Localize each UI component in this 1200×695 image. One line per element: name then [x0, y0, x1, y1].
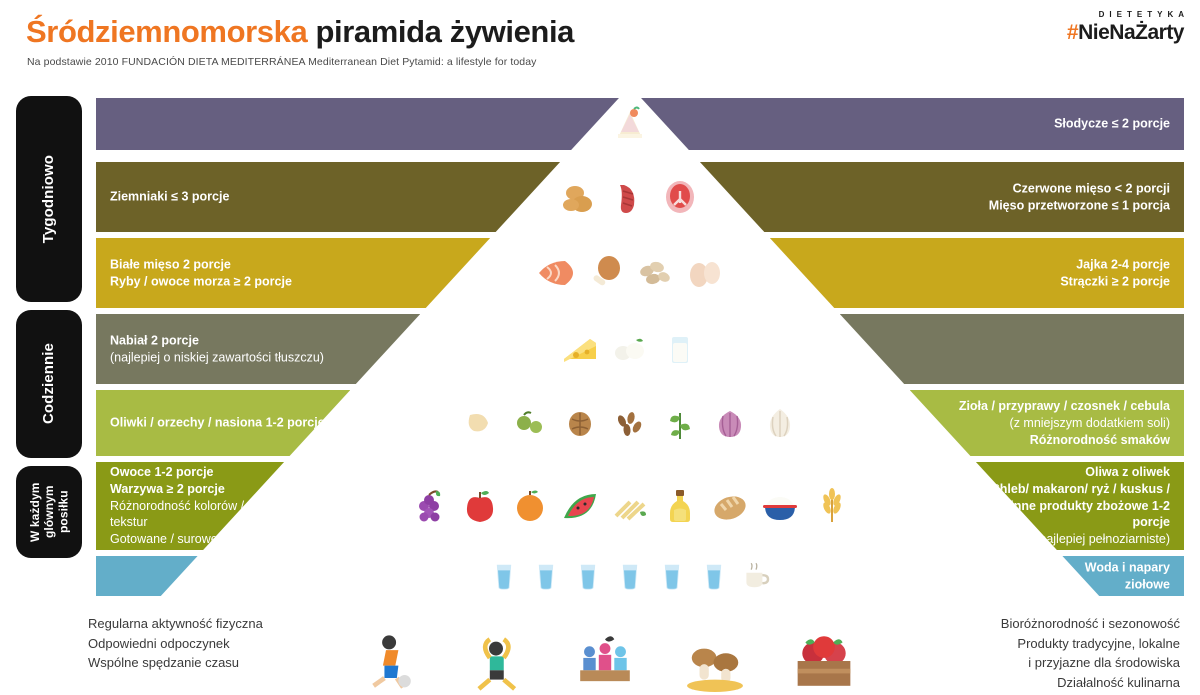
band-right-text-sweets: Słodycze ≤ 2 porcje	[1054, 116, 1170, 133]
band-right-dairy	[840, 314, 1184, 384]
pyramid-row-water: Woda i napary ziołowe	[0, 556, 1200, 596]
sidebar-item-weekly[interactable]: Tygodniowo	[16, 96, 82, 302]
band-left-text-olives-nuts-herbs: Oliwki / orzechy / nasiona 1-2 porcje	[110, 415, 325, 432]
stretching-person-icon	[465, 630, 527, 692]
pyramid-row-red-meat: Ziemniaki ≤ 3 porcjeCzerwone mięso < 2 p…	[0, 162, 1200, 232]
band-right-text-white-meat-fish: Jajka 2-4 porcjeStrączki ≥ 2 porcje	[1060, 256, 1170, 290]
band-right-water: Woda i napary ziołowe	[1062, 556, 1184, 596]
page-header: Śródziemnomorska piramida żywienia Na po…	[0, 0, 1200, 92]
band-right-text-red-meat: Czerwone mięso < 2 porcjiMięso przetworz…	[989, 180, 1170, 214]
band-left-dairy: Nabiał 2 porcje(najlepiej o niskiej zawa…	[96, 314, 420, 384]
page-title-highlight: Śródziemnomorska	[26, 14, 307, 49]
band-left-red-meat: Ziemniaki ≤ 3 porcje	[96, 162, 560, 232]
footer-sustainability-text: Bioróżnorodność i sezonowość Produkty tr…	[1001, 614, 1180, 692]
band-right-white-meat-fish: Jajka 2-4 porcjeStrączki ≥ 2 porcje	[770, 238, 1184, 308]
band-right-fruit-veg-grains: Oliwa z oliwekChleb/ makaron/ ryż / kusk…	[976, 462, 1184, 550]
pyramid-row-fruit-veg-grains: Owoce 1-2 porcjeWarzywa ≥ 2 porcjeRóżnor…	[0, 462, 1200, 550]
sidebar-item-weekly-label: Tygodniowo	[40, 155, 58, 243]
brand-kicker: DIETETYKA	[1067, 10, 1189, 19]
band-left-text-dairy: Nabiał 2 porcje(najlepiej o niskiej zawa…	[110, 332, 324, 366]
band-right-text-olives-nuts-herbs: Zioła / przyprawy / czosnek / cebula(z m…	[959, 398, 1170, 448]
pyramid-row-olives-nuts-herbs: Oliwki / orzechy / nasiona 1-2 porcjeZio…	[0, 390, 1200, 456]
band-left-white-meat-fish: Białe mięso 2 porcjeRyby / owoce morza ≥…	[96, 238, 490, 308]
footer-icon-row	[355, 612, 855, 692]
pyramid-row-dairy: Nabiał 2 porcje(najlepiej o niskiej zawa…	[0, 314, 1200, 384]
band-left-text-white-meat-fish: Białe mięso 2 porcjeRyby / owoce morza ≥…	[110, 256, 292, 290]
running-person-icon	[355, 630, 417, 692]
pyramid-row-white-meat-fish: Białe mięso 2 porcjeRyby / owoce morza ≥…	[0, 238, 1200, 308]
pyramid-row-sweets: Słodycze ≤ 2 porcje	[0, 98, 1200, 150]
footer-lifestyle-text: Regularna aktywność fizyczna Odpowiedni …	[88, 614, 263, 673]
page-title-rest: piramida żywienia	[307, 14, 574, 49]
band-left-sweets	[96, 98, 619, 150]
band-left-olives-nuts-herbs: Oliwki / orzechy / nasiona 1-2 porcje	[96, 390, 350, 456]
page-footer: Regularna aktywność fizyczna Odpowiedni …	[0, 604, 1200, 695]
band-right-text-water: Woda i napary ziołowe	[1062, 559, 1170, 593]
sidebar-item-daily[interactable]: Codziennie	[16, 310, 82, 458]
page-subtitle: Na podstawie 2010 FUNDACIÓN DIETA MEDITE…	[27, 56, 537, 68]
pyramid-stage: Słodycze ≤ 2 porcjeZiemniaki ≤ 3 porcjeC…	[0, 92, 1200, 695]
sidebar-item-every-meal[interactable]: W każdym glównym posiłku	[16, 466, 82, 558]
apple-crate-icon	[793, 630, 855, 692]
band-right-olives-nuts-herbs: Zioła / przyprawy / czosnek / cebula(z m…	[910, 390, 1184, 456]
band-right-sweets: Słodycze ≤ 2 porcje	[641, 98, 1184, 150]
sidebar-item-daily-label: Codziennie	[40, 343, 58, 424]
hash-icon: #	[1067, 21, 1078, 44]
band-right-red-meat: Czerwone mięso < 2 porcjiMięso przetworz…	[700, 162, 1184, 232]
mushrooms-icon	[684, 630, 746, 692]
band-left-water	[96, 556, 198, 596]
brand-name: #NieNaŻarty	[1067, 21, 1184, 45]
brand-name-text: NieNaŻarty	[1078, 21, 1184, 44]
sidebar-item-every-meal-label: W każdym glównym posiłku	[28, 466, 70, 558]
people-at-table-icon	[574, 630, 636, 692]
band-left-text-fruit-veg-grains: Owoce 1-2 porcjeWarzywa ≥ 2 porcjeRóżnor…	[110, 464, 284, 548]
page-title: Śródziemnomorska piramida żywienia	[26, 14, 574, 50]
brand-logo: DIETETYKA #NieNaŻarty	[1067, 10, 1184, 45]
band-right-text-fruit-veg-grains: Oliwa z oliwekChleb/ makaron/ ryż / kusk…	[976, 464, 1170, 548]
band-left-text-red-meat: Ziemniaki ≤ 3 porcje	[110, 189, 229, 206]
band-left-fruit-veg-grains: Owoce 1-2 porcjeWarzywa ≥ 2 porcjeRóżnor…	[96, 462, 284, 550]
